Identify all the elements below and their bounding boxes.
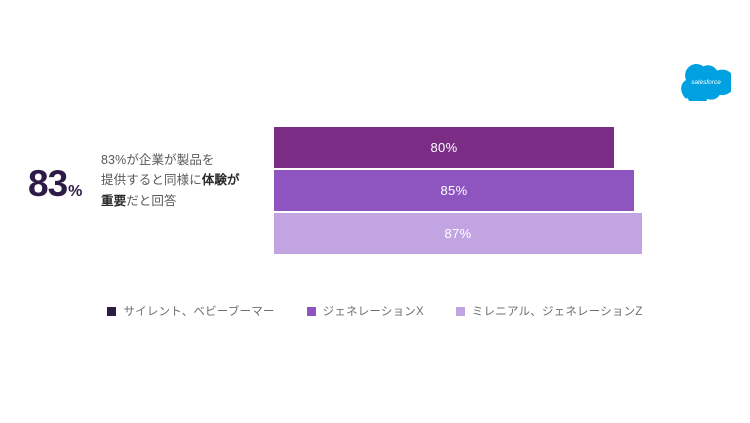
legend-item-silent-boomers[interactable]: サイレント、ベビーブーマー	[107, 303, 274, 319]
legend-item-millennial-genz[interactable]: ミレニアル、ジェネレーションZ	[456, 303, 643, 319]
horizontal-bar-chart: 80% 85% 87%	[274, 127, 654, 254]
caption-line-3-plain: だと回答	[126, 194, 176, 208]
bar-value-label: 87%	[274, 226, 642, 241]
caption-line-2-bold: 体験が	[202, 173, 240, 187]
salesforce-logo: salesforce	[681, 63, 731, 101]
caption-line-1: 83%が企業が製品を	[101, 153, 215, 167]
legend-swatch-icon	[107, 307, 116, 316]
legend-item-gen-x[interactable]: ジェネレーションX	[307, 303, 424, 319]
bar-silent-boomers[interactable]: 80%	[274, 127, 614, 168]
caption-line-3-bold: 重要	[101, 194, 126, 208]
legend-swatch-icon	[307, 307, 316, 316]
logo-wordmark: salesforce	[691, 79, 721, 86]
legend-label: ジェネレーションX	[323, 303, 424, 319]
stat-value: 83	[28, 165, 67, 202]
legend-label: サイレント、ベビーブーマー	[123, 303, 274, 319]
chart-legend: サイレント、ベビーブーマー ジェネレーションX ミレニアル、ジェネレーションZ	[0, 303, 750, 319]
legend-swatch-icon	[456, 307, 465, 316]
bar-value-label: 80%	[274, 140, 614, 155]
legend-label: ミレニアル、ジェネレーションZ	[472, 303, 643, 319]
headline-stat: 83 %	[28, 165, 100, 211]
slide-canvas: salesforce 83 % 83%が企業が製品を 提供すると同様に体験が 重…	[0, 0, 750, 423]
bar-value-label: 85%	[274, 183, 634, 198]
stat-unit: %	[68, 184, 82, 200]
bar-row-gen-x: 85%	[274, 170, 654, 211]
stat-caption: 83%が企業が製品を 提供すると同様に体験が 重要だと回答	[101, 150, 271, 211]
bar-row-millennial-genz: 87%	[274, 213, 654, 254]
bar-gen-x[interactable]: 85%	[274, 170, 634, 211]
cloud-icon: salesforce	[681, 63, 731, 101]
caption-line-2-plain: 提供すると同様に	[101, 173, 202, 187]
bar-millennial-genz[interactable]: 87%	[274, 213, 642, 254]
bar-row-silent-boomers: 80%	[274, 127, 654, 168]
